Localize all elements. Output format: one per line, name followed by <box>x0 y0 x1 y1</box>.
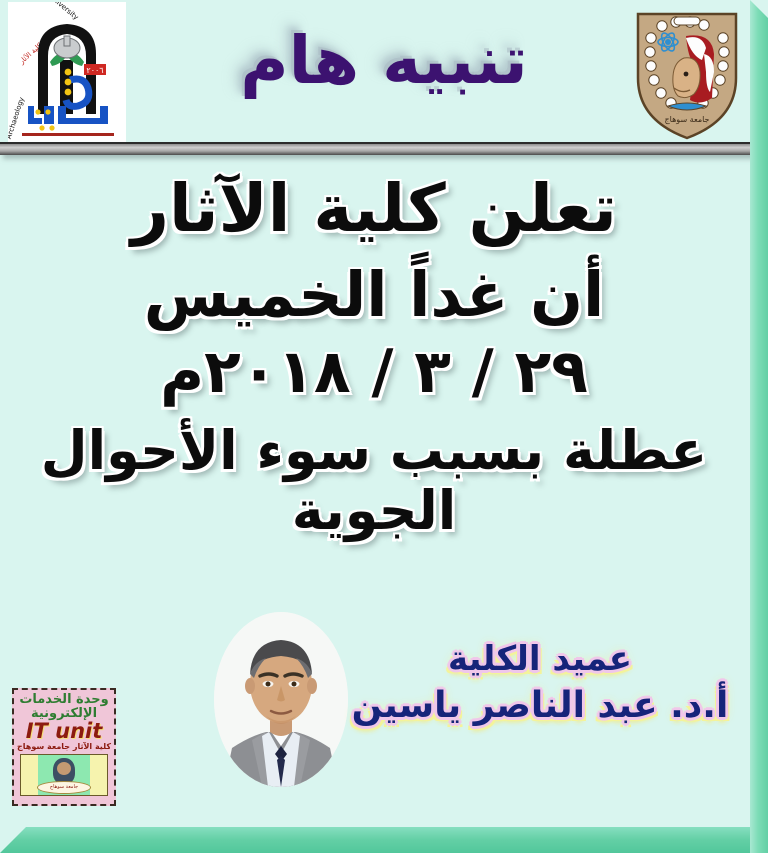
crest-caption: جامعة سوهاج <box>664 115 709 124</box>
it-unit-affiliation: كلية الآثار جامعة سوهاج <box>16 743 112 752</box>
badge-caption: جامعة سوهاج <box>37 781 91 794</box>
poster-header: Faculty of Archaeology كلية الآثار Sohag… <box>0 0 768 150</box>
page-title: تنبيه هام <box>0 28 768 94</box>
announcement-poster: Faculty of Archaeology كلية الآثار Sohag… <box>0 0 768 853</box>
badge-strip-right <box>90 755 107 795</box>
it-unit-line-2: الإلكترونية <box>16 707 112 721</box>
announcement-date: ٢٩ / ٣ / ٢٠١٨م <box>0 339 748 406</box>
header-divider <box>0 142 752 155</box>
announcement-reason: عطلة بسبب سوء الأحوال الجوية <box>0 421 748 542</box>
badge-strip-left <box>21 755 38 795</box>
announcement-line-1: تعلن كلية الآثار <box>0 172 748 246</box>
announcement-line-2: أن غداً الخميس <box>0 260 748 329</box>
frame-border-bottom <box>0 827 768 853</box>
it-unit-logo: وحدة الخدمات الإلكترونية IT unit كلية ال… <box>12 688 116 806</box>
it-unit-line-1: وحدة الخدمات <box>16 693 112 707</box>
dean-portrait <box>214 612 348 787</box>
announcement-body: تعلن كلية الآثار أن غداً الخميس ٢٩ / ٣ /… <box>0 172 748 541</box>
it-unit-badge: جامعة سوهاج <box>20 754 108 796</box>
dean-name: أ.د. عبد الناصر ياسين <box>340 685 740 726</box>
dean-photo-graphic <box>214 612 348 787</box>
frame-border-right <box>750 0 768 853</box>
dean-role: عميد الكلية <box>340 640 740 679</box>
it-unit-brand: IT unit <box>16 721 112 742</box>
dean-signature-block: عميد الكلية أ.د. عبد الناصر ياسين <box>340 640 740 726</box>
